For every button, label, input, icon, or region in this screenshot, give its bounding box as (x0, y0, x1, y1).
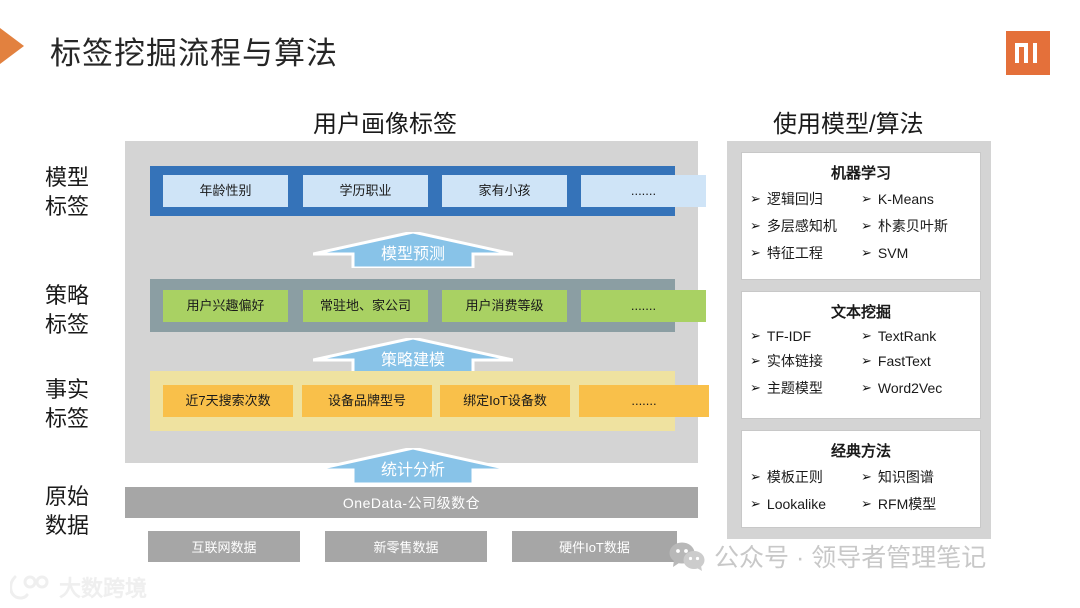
bullet-arrow-icon: ➢ (750, 245, 761, 261)
row-label-rawdata: 原始 数据 (45, 482, 125, 540)
left-column-header: 用户画像标签 (313, 104, 457, 139)
algorithm-box-title: 机器学习 (742, 162, 980, 183)
algorithm-item-label: 知识图谱 (878, 467, 934, 487)
bullet-arrow-icon: ➢ (861, 328, 872, 344)
fact-tag-chip[interactable]: 近7天搜索次数 (163, 385, 293, 417)
page-title: 标签挖掘流程与算法 (50, 28, 338, 73)
algorithm-item-grid: ➢逻辑回归 ➢K-Means ➢多层感知机 ➢朴素贝叶斯 ➢特征工程 ➢SVM (742, 189, 980, 263)
algorithm-box-title: 经典方法 (742, 440, 980, 461)
arrow-label: 模型预测 (313, 232, 513, 268)
bullet-arrow-icon: ➢ (750, 328, 761, 344)
bullet-arrow-icon: ➢ (750, 496, 761, 512)
model-tag-band: 年龄性别 学历职业 家有小孩 ....... (150, 166, 675, 216)
algorithm-item[interactable]: ➢SVM (861, 243, 972, 263)
algorithm-item[interactable]: ➢Lookalike (750, 494, 861, 514)
arrow-strategy-modeling: 策略建模 (313, 338, 513, 374)
fact-tag-chip[interactable]: 绑定IoT设备数 (440, 385, 570, 417)
wechat-icon (669, 541, 705, 571)
bullet-arrow-icon: ➢ (861, 380, 872, 396)
row-label-strategy-line2: 标签 (45, 310, 125, 339)
wechat-watermark-label: 公众号 · 领导者管理笔记 (714, 538, 986, 574)
arrow-label: 策略建模 (313, 338, 513, 374)
arrow-label: 统计分析 (313, 448, 513, 484)
row-label-strategy: 策略 标签 (45, 281, 125, 339)
algorithm-item-label: K-Means (878, 191, 934, 207)
fact-tag-chip[interactable]: 设备品牌型号 (302, 385, 432, 417)
algorithm-item[interactable]: ➢主题模型 (750, 378, 861, 398)
algorithm-item-label: 朴素贝叶斯 (878, 216, 948, 236)
algorithm-item-label: 模板正则 (767, 467, 823, 487)
bullet-arrow-icon: ➢ (750, 469, 761, 485)
row-label-fact: 事实 标签 (45, 375, 125, 433)
slide-canvas: 标签挖掘流程与算法 用户画像标签 使用模型/算法 模型 标签 策略 标签 事实 … (0, 0, 1080, 608)
data-source-box[interactable]: 新零售数据 (325, 531, 487, 562)
strategy-tag-band: 用户兴趣偏好 常驻地、家公司 用户消费等级 ....... (150, 279, 675, 332)
model-tag-chip[interactable]: 学历职业 (303, 175, 428, 207)
algorithm-item[interactable]: ➢多层感知机 (750, 216, 861, 236)
algorithm-box-title: 文本挖掘 (742, 301, 980, 322)
data-source-box[interactable]: 互联网数据 (148, 531, 300, 562)
row-label-model-line1: 模型 (45, 163, 125, 192)
strategy-tag-chip[interactable]: ....... (581, 290, 706, 322)
wechat-watermark: 公众号 · 领导者管理笔记 (669, 538, 986, 574)
algorithm-item-label: Word2Vec (878, 380, 942, 396)
algorithm-item[interactable]: ➢TextRank (861, 328, 972, 344)
onedata-warehouse-bar[interactable]: OneData-公司级数仓 (125, 487, 698, 518)
algorithm-item-label: 主题模型 (767, 378, 823, 398)
strategy-tag-chip[interactable]: 用户消费等级 (442, 290, 567, 322)
algorithm-item[interactable]: ➢K-Means (861, 189, 972, 209)
fact-tag-band: 近7天搜索次数 设备品牌型号 绑定IoT设备数 ....... (150, 371, 675, 431)
row-label-fact-line1: 事实 (45, 375, 125, 404)
algorithm-item[interactable]: ➢知识图谱 (861, 467, 972, 487)
algorithm-item-label: 逻辑回归 (767, 189, 823, 209)
algorithm-item[interactable]: ➢逻辑回归 (750, 189, 861, 209)
arrow-statistical-analysis: 统计分析 (313, 448, 513, 484)
algorithm-box-machine-learning: 机器学习 ➢逻辑回归 ➢K-Means ➢多层感知机 ➢朴素贝叶斯 ➢特征工程 … (741, 152, 981, 280)
mi-logo-icon (1015, 43, 1041, 63)
brand-watermark-label: 大数跨境 (59, 571, 147, 603)
model-tag-chip[interactable]: 家有小孩 (442, 175, 567, 207)
bullet-arrow-icon: ➢ (861, 218, 872, 234)
algorithm-item[interactable]: ➢特征工程 (750, 243, 861, 263)
algorithm-item-label: RFM模型 (878, 494, 936, 514)
algorithm-item-grid: ➢TF-IDF ➢TextRank ➢实体链接 ➢FastText ➢主题模型 … (742, 328, 980, 398)
bullet-arrow-icon: ➢ (750, 191, 761, 207)
algorithm-box-text-mining: 文本挖掘 ➢TF-IDF ➢TextRank ➢实体链接 ➢FastText ➢… (741, 291, 981, 419)
bullet-arrow-icon: ➢ (861, 353, 872, 369)
algorithm-item[interactable]: ➢RFM模型 (861, 494, 972, 514)
algorithm-item-label: Lookalike (767, 496, 826, 512)
algorithm-item[interactable]: ➢TF-IDF (750, 328, 861, 344)
data-source-box[interactable]: 硬件IoT数据 (512, 531, 677, 562)
strategy-tag-chip[interactable]: 常驻地、家公司 (303, 290, 428, 322)
algorithm-item[interactable]: ➢Word2Vec (861, 378, 972, 398)
brand-logo-icon (10, 574, 52, 600)
bullet-arrow-icon: ➢ (750, 353, 761, 369)
fact-tag-chip[interactable]: ....... (579, 385, 709, 417)
row-label-model: 模型 标签 (45, 163, 125, 221)
row-label-strategy-line1: 策略 (45, 281, 125, 310)
row-label-rawdata-line1: 原始 (45, 482, 125, 511)
algorithm-item-label: 多层感知机 (767, 216, 837, 236)
model-tag-chip[interactable]: ....... (581, 175, 706, 207)
row-label-rawdata-line2: 数据 (45, 511, 125, 540)
bullet-arrow-icon: ➢ (750, 218, 761, 234)
right-column-header: 使用模型/算法 (773, 104, 924, 139)
title-arrow-icon (0, 28, 24, 64)
row-label-fact-line2: 标签 (45, 404, 125, 433)
algorithm-item-label: 特征工程 (767, 243, 823, 263)
algorithm-box-classic-methods: 经典方法 ➢模板正则 ➢知识图谱 ➢Lookalike ➢RFM模型 (741, 430, 981, 528)
bullet-arrow-icon: ➢ (861, 496, 872, 512)
xiaomi-logo (1006, 31, 1050, 75)
algorithm-item[interactable]: ➢FastText (861, 351, 972, 371)
algorithm-item[interactable]: ➢实体链接 (750, 351, 861, 371)
model-tag-chip[interactable]: 年龄性别 (163, 175, 288, 207)
bullet-arrow-icon: ➢ (750, 380, 761, 396)
row-label-model-line2: 标签 (45, 192, 125, 221)
algorithm-item-label: SVM (878, 245, 908, 261)
brand-watermark: 大数跨境 (10, 571, 147, 603)
strategy-tag-chip[interactable]: 用户兴趣偏好 (163, 290, 288, 322)
arrow-model-prediction: 模型预测 (313, 232, 513, 268)
algorithm-item-grid: ➢模板正则 ➢知识图谱 ➢Lookalike ➢RFM模型 (742, 467, 980, 514)
bullet-arrow-icon: ➢ (861, 469, 872, 485)
bullet-arrow-icon: ➢ (861, 191, 872, 207)
algorithm-item[interactable]: ➢朴素贝叶斯 (861, 216, 972, 236)
algorithm-item-label: 实体链接 (767, 351, 823, 371)
algorithm-item-label: FastText (878, 353, 931, 369)
algorithm-item[interactable]: ➢模板正则 (750, 467, 861, 487)
algorithm-item-label: TF-IDF (767, 328, 811, 344)
bullet-arrow-icon: ➢ (861, 245, 872, 261)
algorithm-item-label: TextRank (878, 328, 936, 344)
